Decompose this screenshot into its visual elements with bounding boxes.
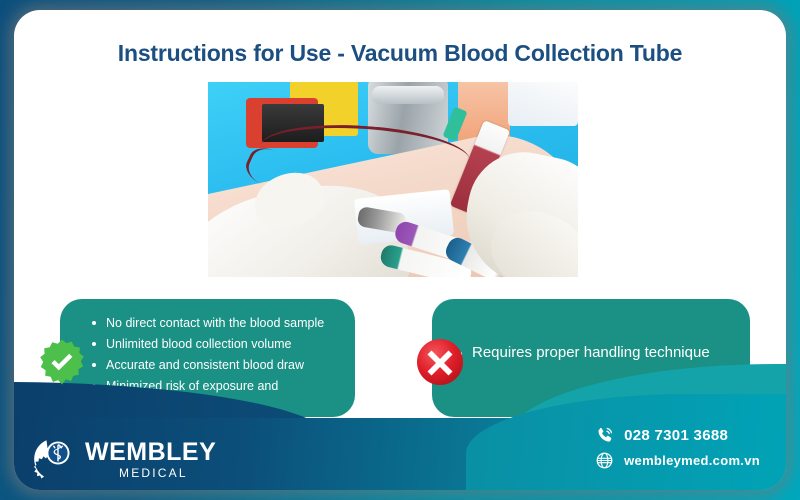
logo-name: WEMBLEY (85, 440, 216, 465)
website-url: wembleymed.com.vn (624, 453, 760, 468)
content-panel: Instructions for Use - Vacuum Blood Coll… (14, 10, 786, 490)
list-item: Accurate and consistent blood draw (106, 355, 341, 375)
logo-tagline: MEDICAL (119, 467, 216, 479)
phone-number: 028 7301 3688 (624, 427, 728, 444)
phone-icon (595, 426, 614, 445)
list-item: Requires proper handling technique (472, 343, 740, 363)
contact-block: 028 7301 3688 wembleymed.com.vn (595, 426, 760, 476)
limitations-list: Requires proper handling technique (432, 299, 750, 363)
photo-sterile-package (508, 82, 578, 126)
contact-website-row[interactable]: wembleymed.com.vn (595, 451, 760, 470)
list-item: Unlimited blood collection volume (106, 334, 341, 354)
check-badge-icon (38, 338, 86, 386)
caduceus-gear-logo-icon (32, 436, 78, 482)
page-title: Instructions for Use - Vacuum Blood Coll… (14, 40, 786, 67)
globe-icon (595, 451, 614, 470)
photo-canister-lid (372, 86, 444, 104)
list-item: No direct contact with the blood sample (106, 313, 341, 333)
x-circle-icon (414, 336, 466, 388)
slide-canvas: Instructions for Use - Vacuum Blood Coll… (0, 0, 800, 500)
contact-phone-row[interactable]: 028 7301 3688 (595, 426, 760, 445)
logo-text-block: WEMBLEY MEDICAL (85, 440, 216, 479)
brand-logo[interactable]: WEMBLEY MEDICAL (32, 436, 216, 482)
blood-collection-photo (208, 82, 578, 277)
